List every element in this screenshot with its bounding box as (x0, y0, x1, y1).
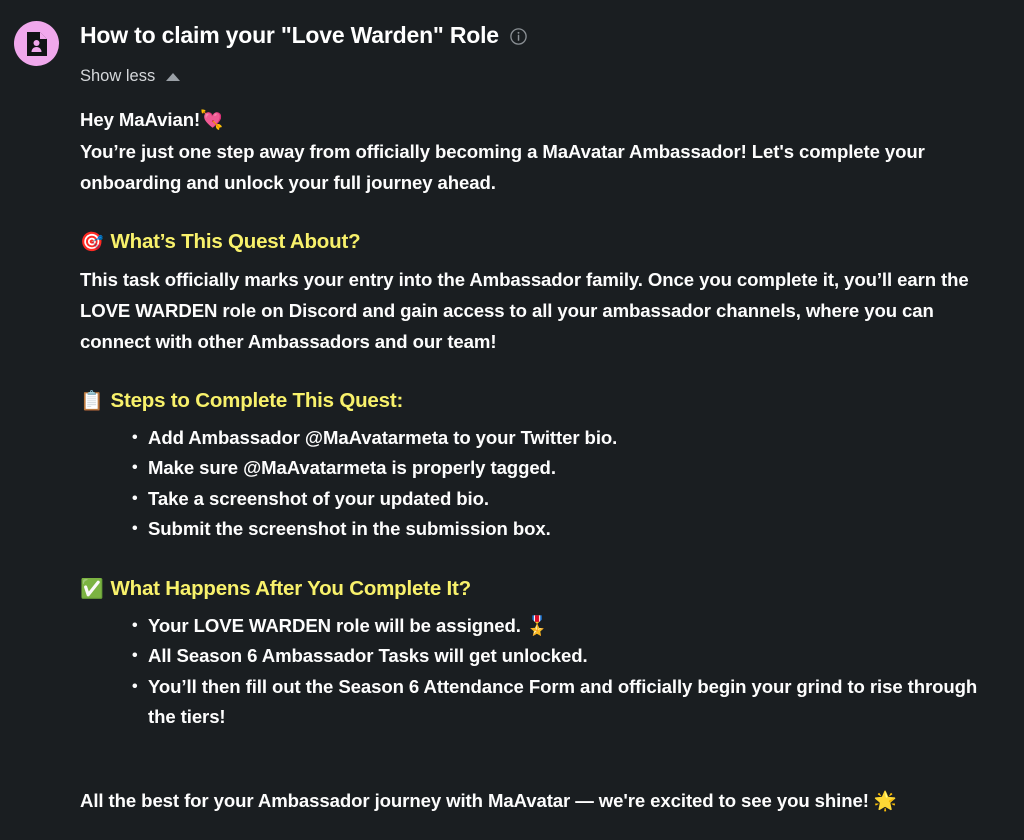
list-item: Take a screenshot of your updated bio. (80, 484, 1000, 515)
section-heading: 🎯What’s This Quest About? (80, 229, 1000, 256)
emphasis-text: LOVE WARDEN (194, 615, 331, 636)
title-row: How to claim your "Love Warden" Role (80, 22, 527, 50)
body-text: is properly tagged. (386, 457, 556, 478)
list-item: Your LOVE WARDEN role will be assigned. … (80, 611, 1000, 642)
intro-line-1: You’re just one step away from officiall… (80, 141, 925, 162)
dart-emoji: 🎯 (80, 231, 103, 253)
section-heading-label: What’s This Quest About? (110, 230, 360, 253)
heart-arrow-emoji: 💘 (200, 110, 223, 131)
section-heading: 📋Steps to Complete This Quest: (80, 388, 1000, 415)
greeting-line: Hey MaAvian!💘 (80, 104, 1000, 136)
list-item: Add Ambassador @MaAvatarmeta to your Twi… (80, 423, 1000, 454)
show-less-label: Show less (80, 67, 155, 86)
body-text: Take a screenshot of your updated bio. (148, 488, 489, 509)
section-after-complete: ✅What Happens After You Complete It? You… (80, 576, 1000, 733)
check-mark-emoji: ✅ (80, 578, 103, 600)
section-heading-label: Steps to Complete This Quest: (110, 389, 403, 412)
intro-paragraph: You’re just one step away from officiall… (80, 136, 1000, 198)
section-heading: ✅What Happens After You Complete It? (80, 576, 1000, 603)
chevron-up-icon (166, 73, 180, 81)
emphasis-text: LOVE WARDEN (80, 300, 217, 321)
intro-line-2: onboarding and unlock your full journey … (80, 172, 496, 193)
list-item: You’ll then fill out the Season 6 Attend… (80, 672, 1000, 733)
list-item: Submit the screenshot in the submission … (80, 514, 1000, 545)
body-text: role will be assigned. 🎖️ (331, 615, 549, 636)
section-quest-about: 🎯What’s This Quest About? This task offi… (80, 229, 1000, 358)
closing-line: All the best for your Ambassador journey… (80, 785, 1000, 817)
clipboard-emoji: 📋 (80, 390, 103, 412)
body-text: All Season 6 Ambassador Tasks will get u… (148, 645, 588, 666)
show-less-toggle[interactable]: Show less (80, 67, 527, 86)
list-item: All Season 6 Ambassador Tasks will get u… (80, 641, 1000, 672)
closing-text: All the best for your Ambassador journey… (80, 790, 869, 811)
body-text: Submit the screenshot in the submission … (148, 518, 551, 539)
page-title: How to claim your "Love Warden" Role (80, 22, 499, 50)
greeting-text: Hey MaAvian! (80, 109, 200, 130)
list-item: Make sure @MaAvatarmeta is properly tagg… (80, 453, 1000, 484)
emphasis-text: Season 6 Attendance Form (338, 676, 575, 697)
emphasis-text: Add Ambassador @MaAvatarmeta (148, 427, 448, 448)
info-circle-icon[interactable] (510, 28, 527, 45)
emphasis-text: Make sure @MaAvatarmeta (148, 457, 386, 478)
quest-detail-panel: How to claim your "Love Warden" Role Sho… (0, 0, 1024, 840)
quest-header: How to claim your "Love Warden" Role Sho… (0, 0, 1024, 86)
body-text: This task officially marks your entry in… (80, 269, 969, 290)
glowing-star-emoji: 🌟 (874, 791, 897, 812)
quest-header-text: How to claim your "Love Warden" Role Sho… (80, 18, 527, 86)
steps-list: Add Ambassador @MaAvatarmeta to your Twi… (80, 423, 1000, 545)
document-person-icon (14, 21, 59, 66)
outcomes-list: Your LOVE WARDEN role will be assigned. … (80, 611, 1000, 733)
section-body: This task officially marks your entry in… (80, 264, 1000, 357)
body-text: Your (148, 615, 194, 636)
body-text: You’ll then fill out the (148, 676, 338, 697)
quest-body: Hey MaAvian!💘 You’re just one step away … (0, 104, 1024, 817)
body-text: to your Twitter bio. (448, 427, 617, 448)
section-steps: 📋Steps to Complete This Quest: Add Ambas… (80, 388, 1000, 545)
section-heading-label: What Happens After You Complete It? (110, 577, 471, 600)
